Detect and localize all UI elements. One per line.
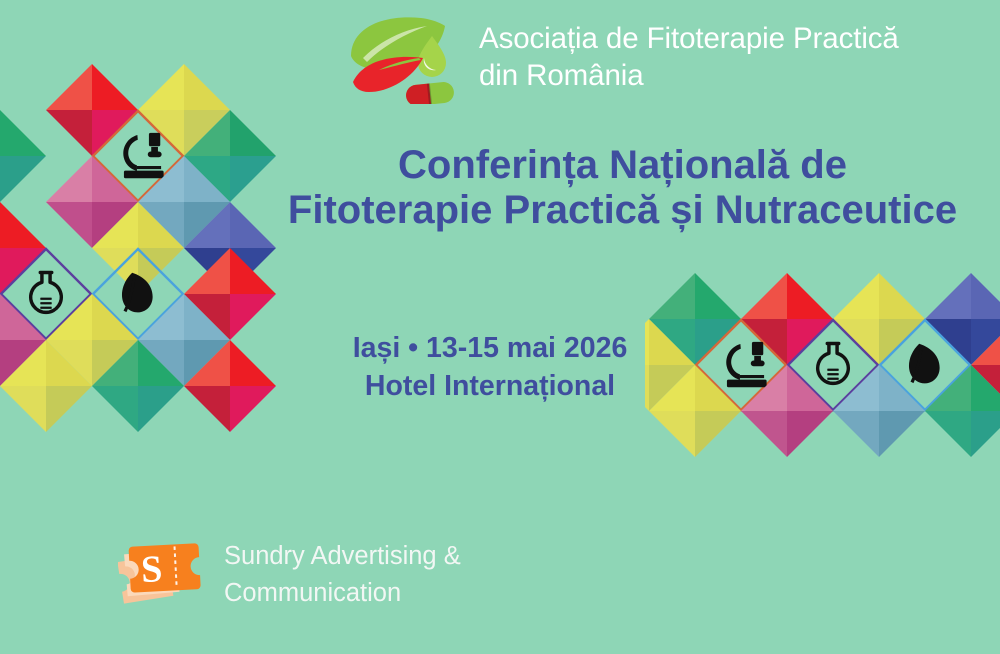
flask-icon (1, 249, 91, 339)
diamond-tile (0, 110, 46, 202)
diamond-tile (92, 202, 184, 294)
leaf-icon (93, 249, 183, 339)
sundry-logo-letter: S (140, 548, 163, 591)
diamond-tile (138, 64, 230, 156)
association-header: Asociația de Fitoterapie Practică din Ro… (345, 12, 899, 104)
conference-title: Conferința Națională de Fitoterapie Prac… (255, 143, 990, 233)
conference-poster: Asociația de Fitoterapie Practică din Ro… (0, 0, 1000, 654)
diamond-tile (925, 365, 1000, 457)
decorative-diamond-pattern-left (0, 58, 290, 473)
diamond-tile (741, 273, 833, 365)
diamond-tile (0, 340, 92, 432)
diamond-tile (92, 340, 184, 432)
diamond-tile (184, 340, 276, 432)
microscope-icon (696, 320, 786, 410)
diamond-tile (0, 294, 46, 386)
diamond-tile (833, 273, 925, 365)
phytotherapy-association-logo (345, 12, 463, 104)
microscope-icon (93, 111, 183, 201)
date-and-venue: Iași • 13-15 mai 2026 Hotel Internaționa… (280, 330, 700, 406)
diamond-tile (0, 202, 46, 294)
diamond-tile (46, 294, 138, 386)
diamond-tile (971, 319, 1000, 411)
sundry-ticket-logo: S (118, 533, 210, 617)
diamond-tile (138, 294, 230, 386)
diamond-tile (925, 273, 1000, 365)
leaf-icon (880, 320, 970, 410)
diamond-tile (138, 156, 230, 248)
diamond-tile (833, 365, 925, 457)
diamond-tile (46, 64, 138, 156)
diamond-tile (46, 156, 138, 248)
sundry-brand-name: Sundry Advertising & Communication (224, 538, 461, 612)
diamond-tile (741, 365, 833, 457)
sundry-brand: S Sundry Advertising & Communication (118, 533, 461, 617)
flask-icon (788, 320, 878, 410)
diamond-tile (184, 248, 276, 340)
association-name: Asociația de Fitoterapie Practică din Ro… (479, 21, 899, 95)
